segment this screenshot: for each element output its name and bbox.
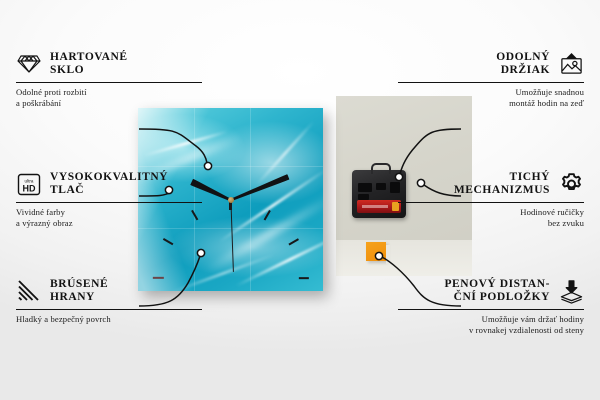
divider [398,309,584,311]
feature-high-quality-print[interactable]: ultraHD VYSOKOKVALITNÝ TLAČ Vividné farb… [16,171,202,229]
feature-desc-line1: Hladký a bezpečný povrch [16,314,111,324]
feature-desc-line2: v rovnakej vzdialenosti od steny [469,325,584,335]
beveled-edge-icon [16,279,41,303]
feature-durable-hanger[interactable]: ODOLNÝ DRŽIAK Umožňuje snadnou montáž ho… [398,51,584,109]
feature-desc-line1: Umožňuje snadnou [515,87,584,97]
feature-desc-line1: Umožňuje vám držať hodiny [482,314,584,324]
feature-silent-mechanism[interactable]: TICHÝ MECHANIZMUS Hodinové ručičky bez z… [398,171,584,229]
clock-center-hub [228,197,234,203]
feature-hardened-glass[interactable]: HARTOVANÉ SKLO Odolné proti rozbití a po… [16,51,202,109]
foam-pad-icon [559,279,584,303]
divider [16,202,202,204]
feature-desc-line1: Hodinové ručičky [520,207,584,217]
feature-beveled-edges[interactable]: BRÚSENÉ HRANY Hladký a bezpečný povrch [16,278,202,325]
feature-desc-line1: Vividné farby [16,207,65,217]
feature-desc-line2: a poškrábání [16,98,61,108]
divider [16,82,202,84]
feature-title-line2: MECHANIZMUS [454,184,550,196]
product-wall-shelf [336,240,472,276]
divider [16,309,202,311]
battery [357,200,401,213]
diamond-icon [16,52,41,76]
svg-text:HD: HD [22,183,35,193]
feature-title-line1: ODOLNÝ [496,51,550,63]
feature-foam-spacers[interactable]: PENOVÝ DISTAN- ČNÍ PODLOŽKY Umožňuje vám… [398,278,584,336]
feature-title-line2: HRANY [50,291,95,303]
infographic-canvas: HARTOVANÉ SKLO Odolné proti rozbití a po… [0,0,600,400]
mechanism-hanger-icon [371,163,391,174]
feature-desc-line2: bez zvuku [548,218,584,228]
divider [398,82,584,84]
feature-title-line2: DRŽIAK [501,64,550,76]
feature-desc-line2: montáž hodin na zeď [509,98,584,108]
feature-title-line2: ČNÍ PODLOŽKY [454,291,550,303]
ultra-hd-icon: ultraHD [16,172,41,196]
feature-title-line1: PENOVÝ DISTAN- [444,278,550,290]
feature-title-line2: SKLO [50,64,84,76]
feature-title-line1: VYSOKOKVALITNÝ [50,171,168,183]
divider [398,202,584,204]
picture-hanger-icon [559,52,584,76]
feature-title-line2: TLAČ [50,184,84,196]
feature-desc-line1: Odolné proti rozbití [16,87,87,97]
foam-spacer-pad [366,242,386,261]
feature-title-line1: HARTOVANÉ [50,51,128,63]
feature-desc-line2: a výrazný obraz [16,218,73,228]
gear-icon [559,172,584,196]
feature-title-line1: TICHÝ [510,171,550,183]
feature-title-line1: BRÚSENÉ [50,278,108,290]
